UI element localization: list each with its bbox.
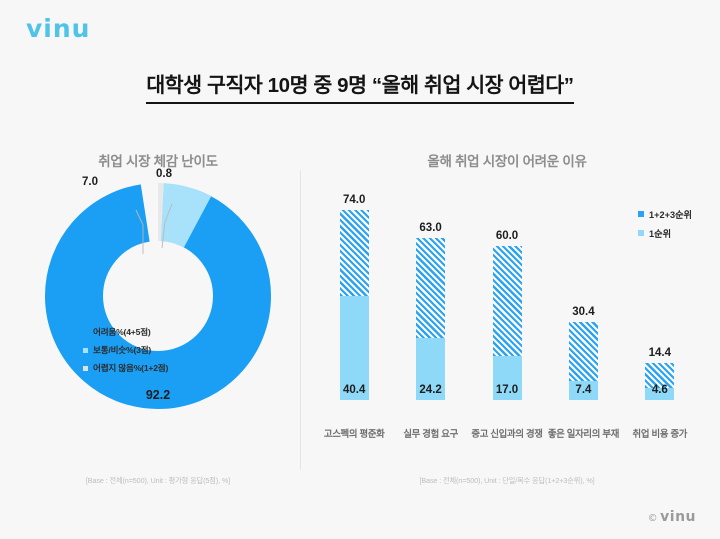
bar-category-3: 좋은 일자리의 부재	[545, 428, 621, 440]
bar-first-value-3: 7.4	[575, 384, 591, 396]
bar-stack-1: 63.0 24.2	[416, 238, 445, 400]
right-section-title: 올해 취업 시장이 어려운 이유	[302, 150, 712, 170]
left-panel: 취업 시장 체감 난이도 7.0 0.8 92.2 어려움%(4+5점)	[16, 136, 300, 492]
bar-column-2: 60.0 17.0	[469, 195, 545, 400]
right-panel: 올해 취업 시장이 어려운 이유 1+2+3순위 1순위 74.0 40.4	[302, 136, 712, 492]
legend-swatch-neutral	[83, 348, 88, 353]
bar-total-value-3: 30.4	[572, 306, 594, 318]
vinu-logo: vinu	[26, 14, 90, 43]
bar-total-value-2: 60.0	[496, 230, 518, 242]
bar-column-0: 74.0 40.4	[316, 195, 392, 400]
bar-total-value-0: 74.0	[343, 194, 365, 206]
copyright-watermark: ©vinu	[648, 509, 696, 525]
bar-first-value-1: 24.2	[419, 384, 441, 396]
donut-value-difficult: 92.2	[146, 388, 170, 402]
right-footnote: [Base : 전체(n=500), Unit : 단일/복수 응답(1+2+3…	[302, 476, 712, 486]
legend-label-not-difficult: 어렵지 않음%(1+2점)	[93, 362, 168, 374]
bar-column-4: 14.4 4.6	[622, 195, 698, 400]
legend-label-difficult: 어려움%(4+5점)	[93, 326, 151, 338]
left-footnote: [Base : 전체(n=500), Unit : 평가형 응답(5점), %]	[16, 476, 300, 486]
copyright-icon: ©	[648, 513, 659, 524]
bar-stack-4: 14.4 4.6	[645, 363, 674, 400]
bar-stack-0: 74.0 40.4	[340, 210, 369, 400]
legend-swatch-not-difficult	[83, 366, 88, 371]
bar-first-value-0: 40.4	[343, 384, 365, 396]
bar-category-labels: 고스펙의 평준화 실무 경험 요구 중고 신입과의 경쟁 좋은 일자리의 부재 …	[316, 428, 698, 440]
donut-legend-item-difficult: 어려움%(4+5점)	[83, 326, 233, 338]
legend-swatch-difficult	[83, 330, 88, 335]
bar-total-value-4: 14.4	[649, 347, 671, 359]
left-section-title: 취업 시장 체감 난이도	[16, 150, 300, 170]
panel-divider	[300, 170, 301, 470]
bar-category-2: 중고 신입과의 경쟁	[469, 428, 545, 440]
bar-category-1: 실무 경험 요구	[392, 428, 468, 440]
watermark-text: vinu	[660, 509, 696, 525]
donut-chart: 7.0 0.8 92.2 어려움%(4+5점) 보통/비슷%(3점) 어렵지 않…	[16, 182, 300, 432]
bar-chart: 1+2+3순위 1순위 74.0 40.4 63.0	[316, 178, 698, 446]
bar-stack-3: 30.4 7.4	[569, 322, 598, 400]
bar-category-0: 고스펙의 평준화	[316, 428, 392, 440]
bar-first-value-2: 17.0	[496, 384, 518, 396]
donut-legend-item-not-difficult: 어렵지 않음%(1+2점)	[83, 362, 233, 374]
bar-first-value-4: 4.6	[652, 384, 668, 396]
bar-total-value-1: 63.0	[419, 222, 441, 234]
bar-column-3: 30.4 7.4	[545, 195, 621, 400]
legend-label-neutral: 보통/비슷%(3점)	[93, 344, 151, 356]
bar-segment-total-0	[340, 210, 369, 296]
donut-legend: 어려움%(4+5점) 보통/비슷%(3점) 어렵지 않음%(1+2점)	[83, 320, 233, 380]
donut-legend-item-neutral: 보통/비슷%(3점)	[83, 344, 233, 356]
bar-columns: 74.0 40.4 63.0 24.2 60.0	[316, 195, 698, 400]
bar-column-1: 63.0 24.2	[392, 195, 468, 400]
bar-stack-2: 60.0 17.0	[493, 246, 522, 400]
bar-segment-total-1	[416, 238, 445, 338]
bar-segment-total-2	[493, 246, 522, 356]
donut-value-not-difficult: 0.8	[156, 168, 172, 180]
bar-segment-total-3	[569, 322, 598, 381]
page-title: 대학생 구직자 10명 중 9명 “올해 취업 시장 어렵다”	[0, 68, 720, 104]
page-title-text: 대학생 구직자 10명 중 9명 “올해 취업 시장 어렵다”	[146, 68, 573, 104]
donut-value-neutral: 7.0	[82, 176, 98, 188]
bar-category-4: 취업 비용 증가	[622, 428, 698, 440]
